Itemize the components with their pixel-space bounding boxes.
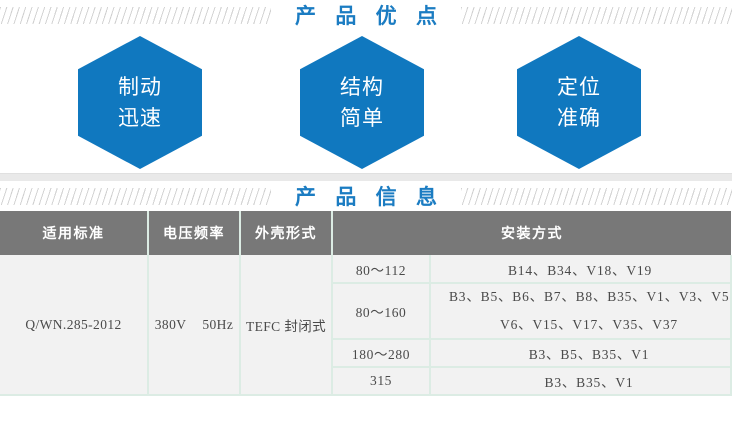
cell-shell-value: TEFC 封闭式 (240, 255, 332, 395)
header-standard: 适用标准 (0, 211, 148, 255)
advantages-section: 制动 迅速 结构 简单 定位 准确 (0, 30, 732, 173)
advantages-section-title: 产 品 优 点 (271, 0, 461, 30)
table-header-row: 适用标准 电压频率 外壳形式 安装方式 (0, 211, 731, 255)
advantage-1-line1: 制动 (118, 72, 162, 102)
advantage-3-line1: 定位 (557, 72, 601, 102)
product-info-table: 适用标准 电压频率 外壳形式 安装方式 Q/WN.285-2012 380V50… (0, 211, 732, 396)
cell-size-range-2: 80～160 (332, 283, 430, 339)
hatch-pattern-left (0, 7, 271, 24)
section-divider (0, 173, 732, 181)
advantages-title-band: 产 品 优 点 (0, 0, 732, 30)
cell-voltage-value: 380V50Hz (148, 255, 240, 395)
advantage-hexagon-row: 制动 迅速 结构 简单 定位 准确 (0, 30, 732, 173)
cell-mounting-codes-2: B3、B5、B6、B7、B8、B35、V1、V3、V5 V6、V15、V17、V… (430, 283, 731, 339)
advantage-hexagon-2: 结构 简单 (300, 36, 424, 169)
info-section-title: 产 品 信 息 (271, 181, 461, 211)
advantage-3-line2: 准确 (557, 103, 601, 133)
cell-standard-value: Q/WN.285-2012 (0, 255, 148, 395)
cell-size-range-4: 315 (332, 367, 430, 395)
info-title-band: 产 品 信 息 (0, 181, 732, 211)
advantage-2-line2: 简单 (340, 103, 384, 133)
info-table-wrapper: 适用标准 电压频率 外壳形式 安装方式 Q/WN.285-2012 380V50… (0, 211, 732, 396)
product-info-page: 产 品 优 点 制动 迅速 结构 简单 定位 准确 产 品 信 息 (0, 0, 732, 423)
cell-size-range-3: 180～280 (332, 339, 430, 367)
header-voltage: 电压频率 (148, 211, 240, 255)
header-shell: 外壳形式 (240, 211, 332, 255)
cell-mounting-codes-2-line2: V6、V15、V17、V35、V37 (449, 318, 729, 333)
hatch-pattern-left-2 (0, 188, 271, 205)
header-mounting: 安装方式 (332, 211, 731, 255)
advantage-2-line1: 结构 (340, 72, 384, 102)
table-row: Q/WN.285-2012 380V50Hz TEFC 封闭式 80～112 B… (0, 255, 731, 283)
voltage-volts: 380V (155, 317, 187, 333)
advantage-1-line2: 迅速 (118, 103, 162, 133)
advantage-hexagon-3: 定位 准确 (517, 36, 641, 169)
voltage-hertz: 50Hz (202, 317, 233, 333)
cell-mounting-codes-3: B3、B5、B35、V1 (430, 339, 731, 367)
hatch-pattern-right-2 (461, 188, 732, 205)
cell-size-range-1: 80～112 (332, 255, 430, 283)
cell-mounting-codes-4: B3、B35、V1 (430, 367, 731, 395)
advantage-hexagon-1: 制动 迅速 (78, 36, 202, 169)
cell-mounting-codes-2-line1: B3、B5、B6、B7、B8、B35、V1、V3、V5 (449, 290, 729, 305)
cell-mounting-codes-1: B14、B34、V18、V19 (430, 255, 731, 283)
hatch-pattern-right (461, 7, 732, 24)
